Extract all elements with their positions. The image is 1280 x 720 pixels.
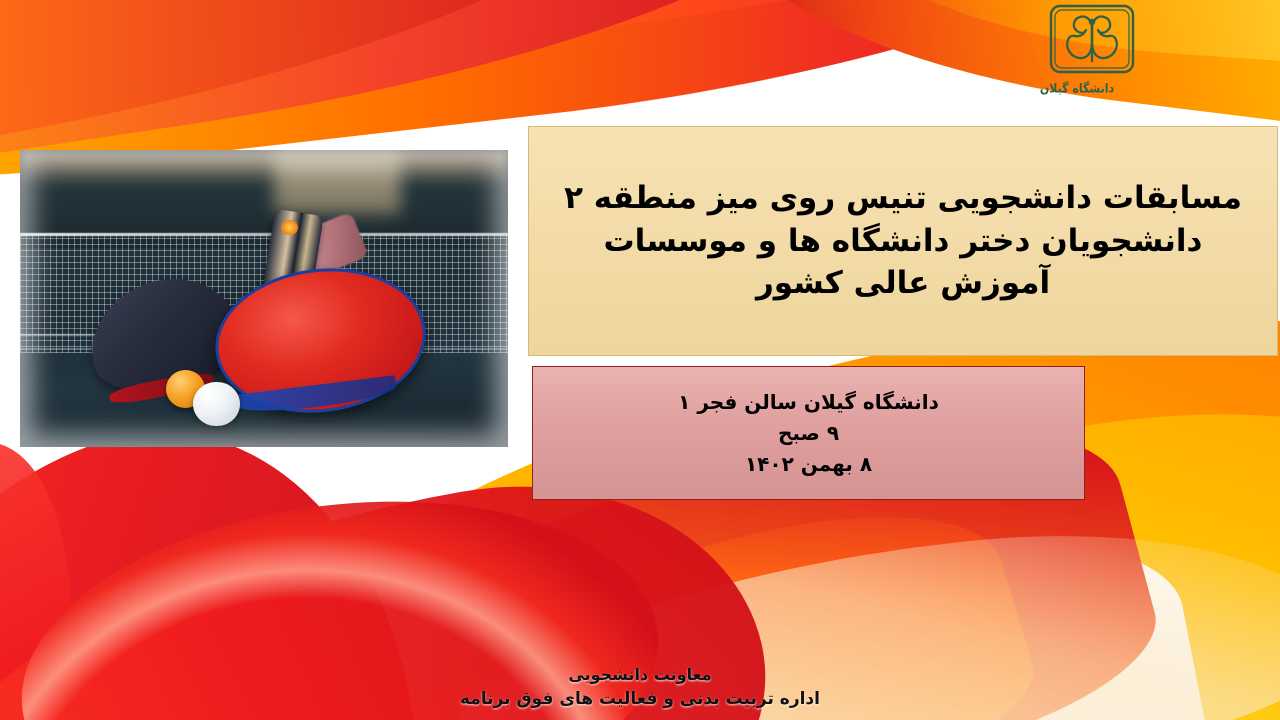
event-date: ۸ بهمن ۱۴۰۲ bbox=[745, 450, 872, 479]
title-line-1: مسابقات دانشجویی تنیس روی میز منطقه ۲ bbox=[564, 177, 1242, 220]
title-line-2: دانشجویان دختر دانشگاه ها و موسسات bbox=[564, 220, 1242, 263]
footer-line-2: اداره تربیت بدنی و فعالیت های فوق برنامه bbox=[0, 687, 1280, 713]
poster-title: مسابقات دانشجویی تنیس روی میز منطقه ۲ دا… bbox=[564, 177, 1242, 305]
title-card: مسابقات دانشجویی تنیس روی میز منطقه ۲ دا… bbox=[528, 126, 1278, 356]
poster-canvas: دانشگاه گیلان مسابقات دانشجویی تنیس روی … bbox=[0, 0, 1280, 720]
event-details-card: دانشگاه گیلان سالن فجر ۱ ۹ صبح ۸ بهمن ۱۴… bbox=[532, 366, 1085, 500]
footer-line-1: معاونت دانشجویی bbox=[0, 663, 1280, 687]
logo-caption: دانشگاه گیلان bbox=[1018, 81, 1136, 96]
photo-vignette bbox=[20, 150, 508, 447]
top-left-ribbon-2 bbox=[0, 0, 1189, 114]
title-line-3: آموزش عالی کشور bbox=[564, 262, 1242, 305]
university-logo: دانشگاه گیلان bbox=[1018, 4, 1136, 104]
event-venue: دانشگاه گیلان سالن فجر ۱ bbox=[678, 388, 939, 417]
university-crest-icon bbox=[1048, 4, 1136, 76]
table-tennis-photo bbox=[20, 150, 508, 447]
event-time: ۹ صبح bbox=[778, 419, 839, 448]
photo-image bbox=[20, 150, 508, 447]
footer: معاونت دانشجویی اداره تربیت بدنی و فعالی… bbox=[0, 663, 1280, 713]
